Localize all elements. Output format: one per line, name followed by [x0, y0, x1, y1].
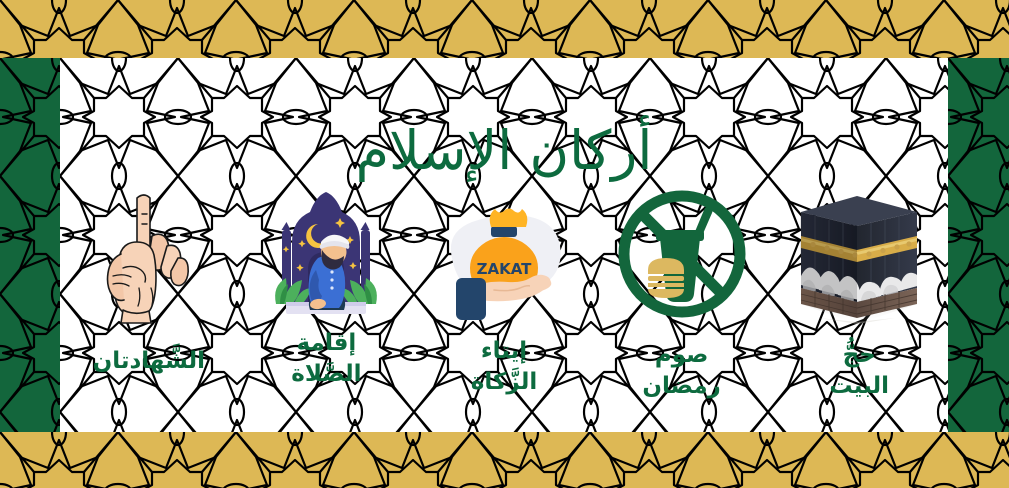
pillar-shahada[interactable]: الشَّهادتان [60, 184, 238, 377]
pillar-salah[interactable]: إقامة الصَّلاة [238, 184, 416, 390]
pillar-hajj-label: حجُّ البيت [829, 340, 889, 402]
left-green-bar [0, 58, 60, 432]
pillars-row: الشَّهادتان [60, 184, 948, 432]
label-line-1: الشَّهادتان [93, 348, 205, 374]
page-title: أركان الإسلام [60, 124, 948, 178]
raised-index-finger-icon [79, 184, 219, 324]
pillar-shahada-label: الشَّهادتان [93, 346, 205, 377]
no-food-drink-icon [612, 184, 752, 324]
zakat-bag-text: ZAKAT [477, 260, 533, 278]
poster-content-area: أركان الإسلام [60, 58, 948, 432]
pillar-hajj[interactable]: حجُّ البيت [770, 184, 948, 402]
green-bar-pattern-icon [0, 58, 60, 432]
label-line-2: رمضان [642, 371, 720, 402]
label-line-2: الزَّكاة [471, 367, 537, 398]
pillar-salah-label: إقامة الصَّلاة [291, 328, 361, 390]
pillar-sawm[interactable]: صوم رمضان [593, 184, 771, 402]
gold-band-pattern-icon [0, 0, 1009, 58]
label-line-1: حجُّ [843, 342, 876, 368]
top-gold-band [0, 0, 1009, 58]
label-line-2: الصَّلاة [291, 359, 361, 390]
pillar-zakat-label: إيتاء الزَّكاة [471, 336, 537, 398]
kaaba-icon [789, 184, 929, 324]
label-line-2: البيت [829, 371, 889, 402]
pillar-sawm-label: صوم رمضان [642, 340, 720, 402]
money-bag-in-hand-icon: ZAKAT [434, 184, 574, 324]
label-line-1: إقامة [297, 330, 357, 356]
pillar-zakat[interactable]: ZAKAT إيتاء الزَّكاة [415, 184, 593, 398]
pillars-of-islam-poster: أركان الإسلام [0, 0, 1009, 488]
label-line-1: إيتاء [481, 338, 527, 364]
green-bar-pattern-icon [948, 58, 1009, 432]
gold-band-pattern-icon [0, 432, 1009, 488]
label-line-1: صوم [655, 342, 709, 368]
right-green-bar [948, 58, 1009, 432]
bottom-gold-band [0, 432, 1009, 488]
praying-man-mosque-icon [256, 184, 396, 324]
